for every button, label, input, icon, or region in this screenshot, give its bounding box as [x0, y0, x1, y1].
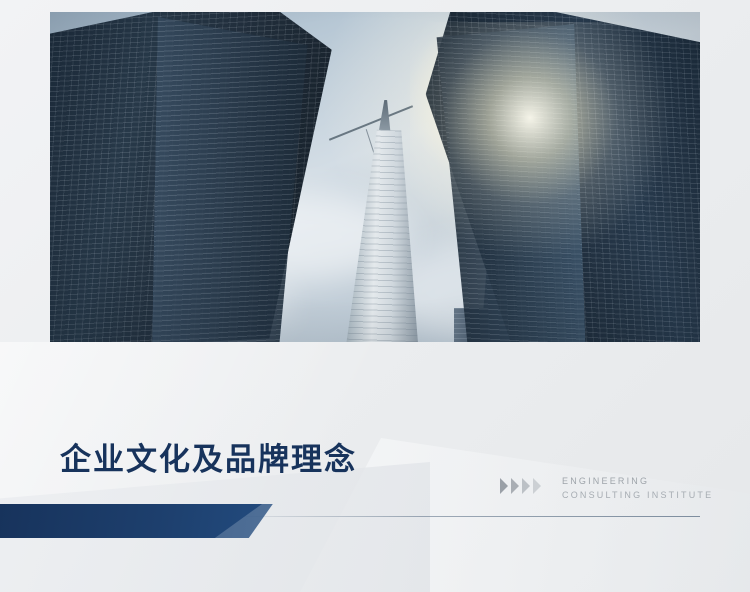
english-subtitle: ENGINEERING CONSULTING INSTITUTE — [562, 474, 713, 502]
page-title: 企业文化及品牌理念 — [60, 434, 357, 479]
english-subtitle-line2: CONSULTING INSTITUTE — [562, 488, 713, 502]
english-subtitle-line1: ENGINEERING — [562, 474, 713, 488]
chevron-right-icon — [500, 478, 508, 494]
title-band: 企业文化及品牌理念 ENGINEERING CONSULTING INSTITU… — [0, 342, 750, 592]
chevron-right-icon — [533, 478, 541, 494]
chevron-right-icon — [500, 478, 541, 494]
chevron-right-icon — [511, 478, 519, 494]
slide-root: 企业文化及品牌理念 ENGINEERING CONSULTING INSTITU… — [0, 0, 750, 592]
hero-image — [50, 12, 700, 342]
chevron-right-icon — [522, 478, 530, 494]
